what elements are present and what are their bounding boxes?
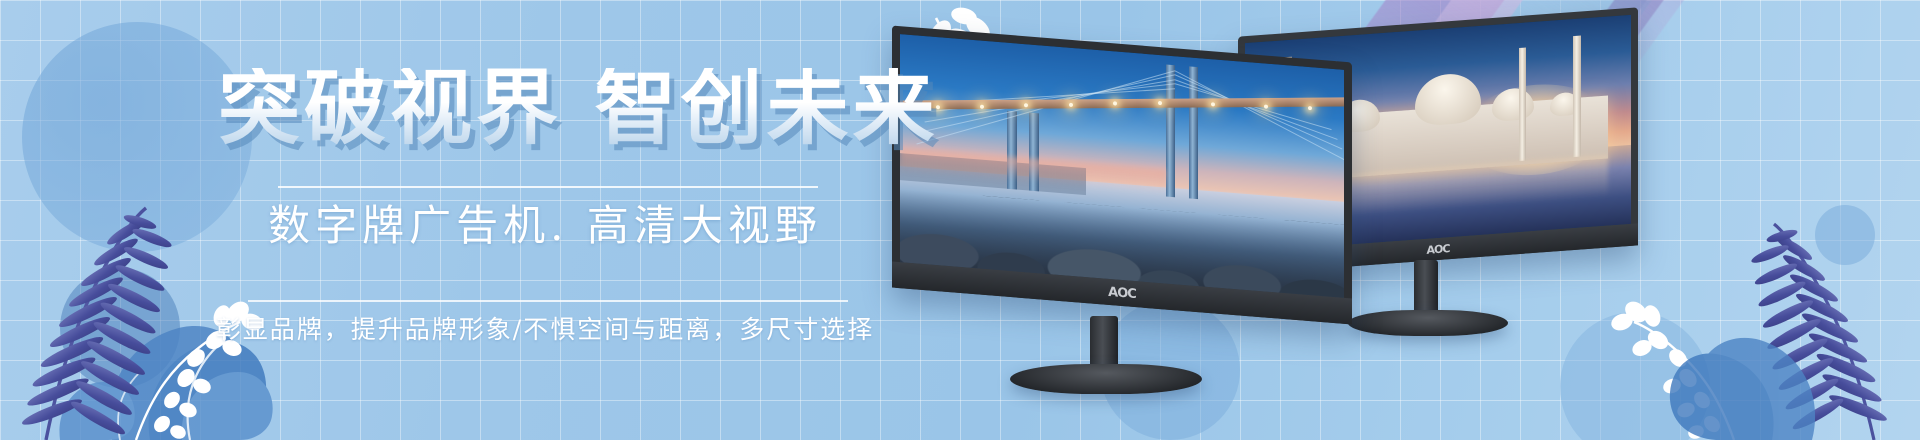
circle-blob-bottom-right — [1560, 312, 1710, 440]
monitor-front-screen — [900, 34, 1344, 298]
aoc-logo-back: AOC — [1427, 242, 1450, 257]
banner-tagline: 彰显品牌，提升品牌形象/不惧空间与距离，多尺寸选择 — [0, 310, 1090, 346]
bridge-light-6 — [1158, 100, 1162, 104]
mosque-minaret-right — [1573, 35, 1581, 157]
banner-subtitle: 数字牌广告机. 高清大视野 — [0, 192, 1090, 253]
bridge-light-8 — [1264, 104, 1268, 108]
monitor-front-base — [1010, 364, 1202, 394]
mosque-minaret-right-inner — [1519, 48, 1526, 161]
page-title: 突破视界 智创未来 — [218, 68, 939, 150]
fern-leaf-right — [1750, 224, 1889, 440]
monitor-back-base — [1348, 310, 1508, 336]
circle-blob-right-small — [1815, 205, 1875, 265]
banner-text-block: 突破视界 智创未来 数字牌广告机. 高清大视野 彰显品牌，提升品牌形象/不惧空间… — [0, 0, 900, 440]
bridge-light-4 — [1069, 102, 1073, 106]
aoc-logo-front: AOC — [1108, 284, 1136, 301]
promo-banner: AOC — [0, 0, 1920, 440]
divider-top — [278, 186, 818, 188]
divider-bottom — [248, 300, 848, 302]
scene-bridge-at-dusk — [900, 34, 1344, 298]
bridge-light-2 — [980, 104, 984, 108]
monitor-front-frame: AOC — [892, 25, 1352, 324]
